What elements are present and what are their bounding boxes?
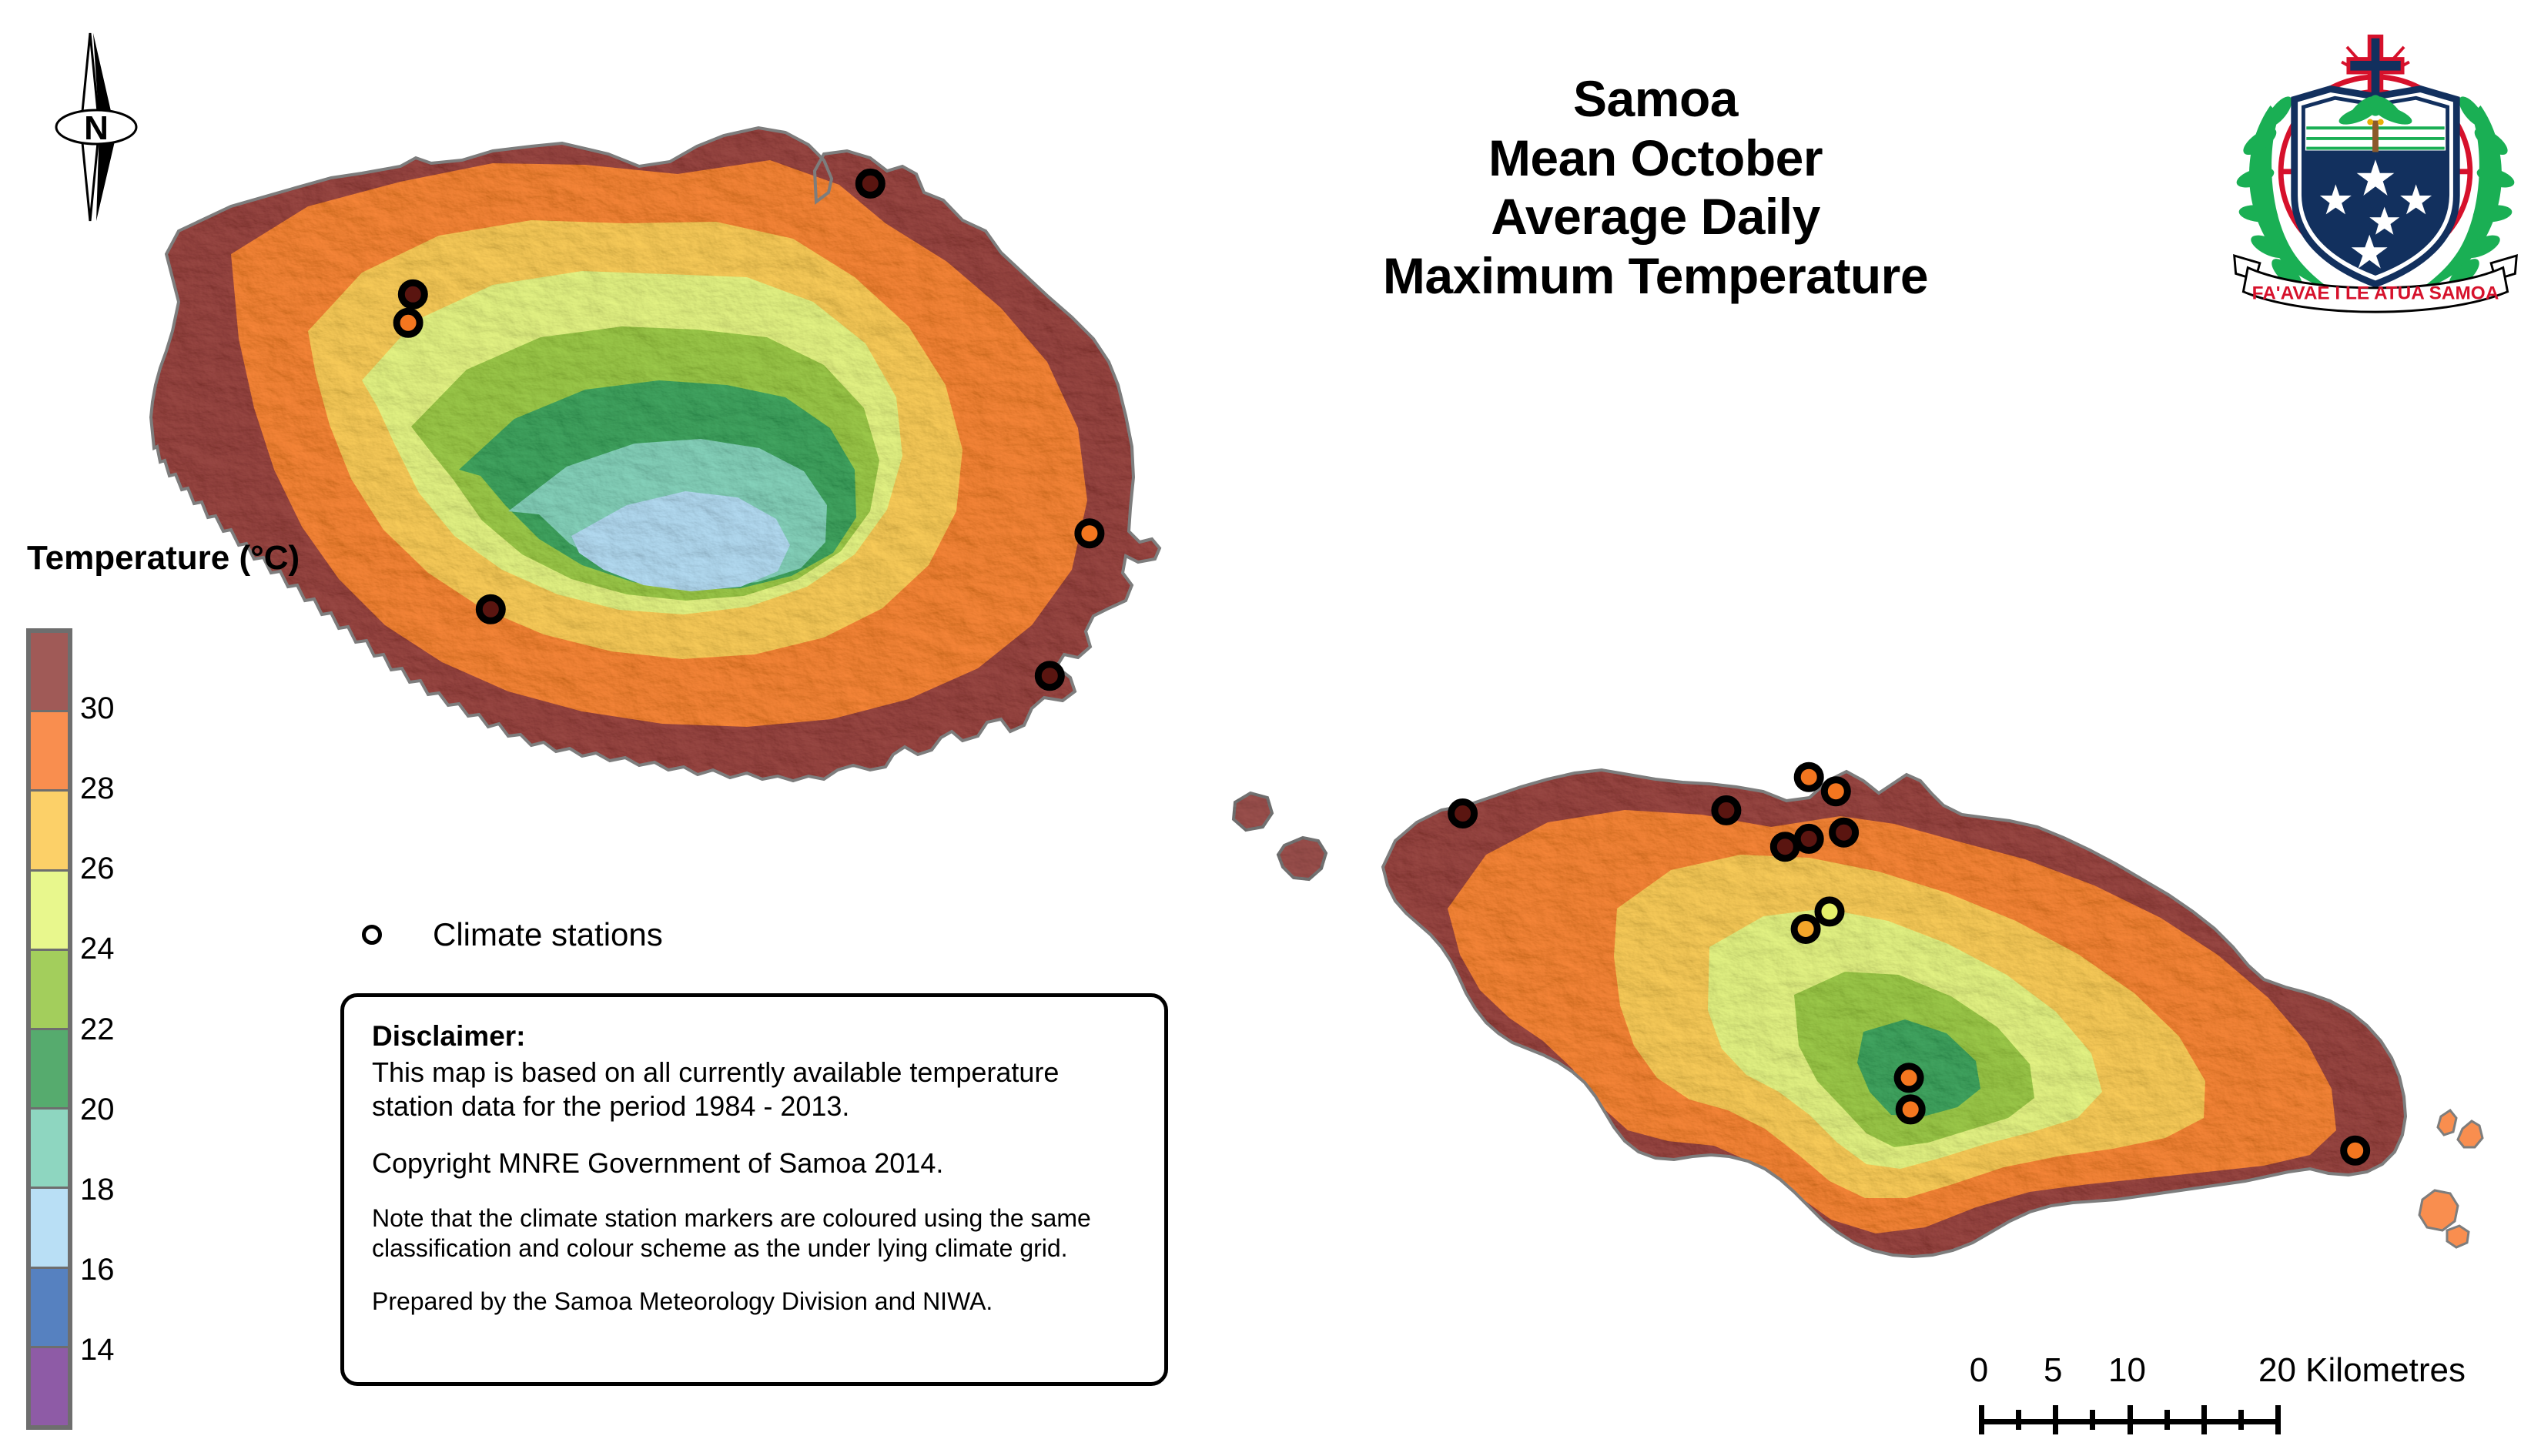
disclaimer-paragraph-3: Note that the climate station markers ar… [372,1203,1137,1264]
climate-station-marker[interactable] [1818,900,1841,923]
legend-title: Temperature (°C) [27,539,300,577]
colorbar-swatch-4 [31,951,68,1030]
climate-station-marker[interactable] [1773,835,1796,859]
colorbar-label-30: 30 [80,693,115,724]
scale-tick-label: 20 Kilometres [2258,1351,2466,1390]
climate-station-marker[interactable] [1797,827,1820,850]
colorbar-swatch-6 [31,1110,68,1189]
climate-station-marker[interactable] [859,172,882,195]
scale-tick [2016,1410,2021,1430]
climate-station-marker[interactable] [479,597,502,621]
climate-station-marker[interactable] [1794,918,1817,941]
climate-station-marker[interactable] [1038,664,1061,688]
colorbar-swatch-0 [31,633,68,712]
climate-station-marker[interactable] [1451,802,1475,825]
climate-station-marker[interactable] [1897,1066,1920,1089]
climate-station-marker-icon [362,925,382,945]
islets-apolima-manono [1234,793,1326,879]
scale-bar: 051020 Kilometres [1979,1351,2441,1434]
scale-tick [1979,1405,1984,1434]
title-line-3: Average Daily [1263,187,2048,246]
title-line-1: Samoa [1263,69,2048,129]
disclaimer-paragraph-1: This map is based on all currently avail… [372,1056,1137,1123]
disclaimer-box: Disclaimer: This map is based on all cur… [340,993,1168,1386]
scale-tick-label: 5 [2044,1351,2062,1390]
scale-tick-label: 10 [2108,1351,2146,1390]
scale-tick-label: 0 [1970,1351,1988,1390]
colorbar-swatch-8 [31,1269,68,1348]
climate-stations-label: Climate stations [433,916,663,953]
title-line-4: Maximum Temperature [1263,246,2048,306]
climate-station-marker[interactable] [2344,1139,2367,1162]
climate-station-marker[interactable] [1078,522,1101,545]
title-line-2: Mean October [1263,129,2048,188]
scale-tick [2201,1405,2207,1434]
islets-eastern [2419,1110,2482,1247]
climate-station-marker[interactable] [1899,1098,1922,1121]
disclaimer-paragraph-2: Copyright MNRE Government of Samoa 2014. [372,1146,1137,1180]
colorbar-swatch-9 [31,1348,68,1425]
scale-tick [2053,1405,2058,1434]
colorbar-swatch-7 [31,1189,68,1268]
island-upolu [1347,739,2464,1278]
scale-bar-graphic [1979,1404,2441,1434]
scale-bar-labels: 051020 Kilometres [1979,1351,2441,1393]
colorbar-swatch-2 [31,792,68,871]
colorbar-label-28: 28 [80,773,115,804]
scale-tick [2164,1410,2170,1430]
page-title: Samoa Mean October Average Daily Maximum… [1263,69,2048,305]
north-arrow: N [42,19,166,235]
temperature-colorbar [26,628,72,1430]
colorbar-label-22: 22 [80,1014,115,1045]
colorbar-label-16: 16 [80,1254,115,1285]
colorbar-label-14: 14 [80,1334,115,1365]
colorbar-label-18: 18 [80,1174,115,1205]
island-savaii [115,100,1193,832]
scale-tick [2090,1410,2095,1430]
scale-tick [2128,1405,2133,1434]
disclaimer-heading: Disclaimer: [372,1020,1137,1053]
climate-station-marker[interactable] [1824,780,1847,803]
colorbar-swatch-3 [31,872,68,951]
colorbar-label-20: 20 [80,1094,115,1125]
colorbar-label-26: 26 [80,853,115,884]
north-arrow-label: N [84,109,109,147]
samoa-coat-of-arms-icon: FA'AVAE I LE ATUA SAMOA [2225,15,2526,316]
colorbar-label-24: 24 [80,933,115,964]
climate-station-marker[interactable] [1833,821,1856,844]
climate-station-marker[interactable] [401,283,424,306]
shield-icon [2295,89,2457,284]
disclaimer-paragraph-4: Prepared by the Samoa Meteorology Divisi… [372,1287,1137,1317]
colorbar-labels: 302826242220181614 [80,628,196,1430]
scale-tick [2275,1405,2281,1434]
colorbar-swatch-1 [31,712,68,792]
climate-station-marker[interactable] [397,311,420,334]
colorbar-swatch-5 [31,1030,68,1110]
climate-station-marker[interactable] [1797,765,1820,788]
climate-station-marker[interactable] [1715,798,1738,822]
scale-tick [2238,1410,2244,1430]
motto-text: FA'AVAE I LE ATUA SAMOA [2252,283,2499,304]
climate-stations-legend: Climate stations [362,916,663,953]
